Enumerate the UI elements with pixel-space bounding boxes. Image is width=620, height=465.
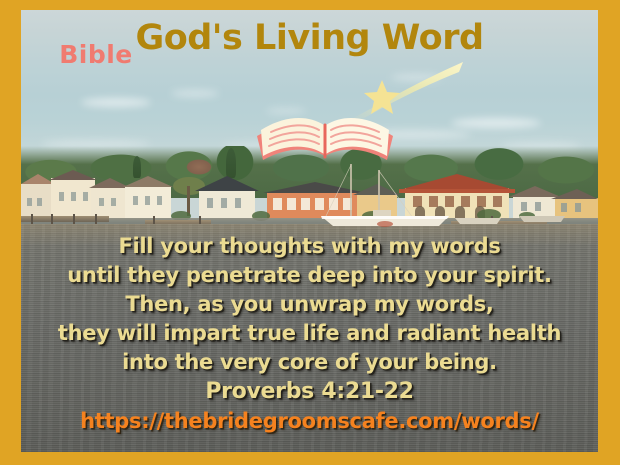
open-bible-icon (251, 78, 401, 178)
dock-piling (31, 214, 33, 224)
verse-line: into the very core of your being. (21, 348, 598, 377)
dock-piling (51, 214, 53, 224)
frame-border-left (0, 0, 21, 465)
frame-border-right (598, 0, 620, 465)
verse-line: they will impart true life and radiant h… (21, 319, 598, 348)
cloud (171, 90, 219, 97)
verse-reference: Proverbs 4:21-22 (21, 377, 598, 407)
dock-piling (95, 214, 97, 224)
frame-border-top (0, 0, 620, 10)
verse-line: Fill your thoughts with my words (21, 232, 598, 261)
tender-boat (453, 212, 505, 226)
background-photo: Bible God's Living Word Fill your though… (21, 10, 598, 452)
dock-piling (73, 214, 75, 224)
page-title: God's Living Word (21, 21, 598, 56)
inspirational-quote-poster: Bible God's Living Word Fill your though… (0, 0, 620, 465)
verse-line: until they penetrate deep into your spir… (21, 261, 598, 290)
tender-boat (517, 210, 569, 224)
verse-line: Then, as you unwrap my words, (21, 290, 598, 319)
verse-block: Fill your thoughts with my words until t… (21, 232, 598, 435)
website-url[interactable]: https://thebridegroomscafe.com/words/ (21, 407, 598, 435)
cloud (81, 98, 151, 107)
frame-border-bottom (0, 452, 620, 465)
